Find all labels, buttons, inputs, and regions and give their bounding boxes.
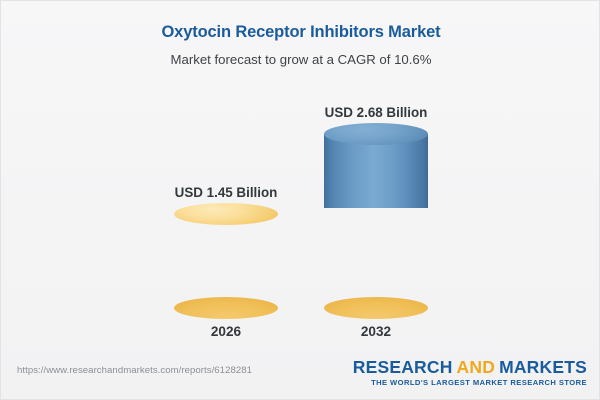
chart-plot-area: USD 1.45 Billion 2026 USD 2.68 Billion: [1, 1, 600, 353]
bar-value-label-2032: USD 2.68 Billion: [296, 105, 456, 121]
bar-value-label-2026: USD 1.45 Billion: [146, 185, 306, 201]
cylinder-body: [324, 134, 428, 208]
cylinder-body: [174, 214, 278, 308]
research-and-markets-logo[interactable]: RESEARCHANDMARKETS THE WORLD'S LARGEST M…: [353, 357, 587, 388]
axis-label-2026: 2026: [146, 324, 306, 340]
logo-tagline: THE WORLD'S LARGEST MARKET RESEARCH STOR…: [353, 378, 587, 388]
cylinder-top-cap: [174, 203, 278, 225]
cylinder-top-cap: [324, 123, 428, 145]
cylinder-body: [324, 208, 428, 308]
logo-word-markets: MARKETS: [499, 357, 587, 377]
cylinder-2026: [174, 203, 278, 308]
cylinder-2032: [324, 123, 428, 308]
source-url-link[interactable]: https://www.researchandmarkets.com/repor…: [17, 365, 252, 377]
logo-wordmark: RESEARCHANDMARKETS: [353, 357, 587, 377]
axis-label-2032: 2032: [296, 324, 456, 340]
cylinder-segment-base: [174, 203, 278, 308]
logo-word-and: AND: [457, 357, 496, 377]
cylinder-segment-growth: [324, 123, 428, 208]
cylinder-segment-base: [324, 208, 428, 308]
chart-footer: https://www.researchandmarkets.com/repor…: [1, 351, 600, 399]
logo-word-research: RESEARCH: [353, 357, 453, 377]
market-forecast-chart-card: Oxytocin Receptor Inhibitors Market Mark…: [0, 0, 600, 400]
